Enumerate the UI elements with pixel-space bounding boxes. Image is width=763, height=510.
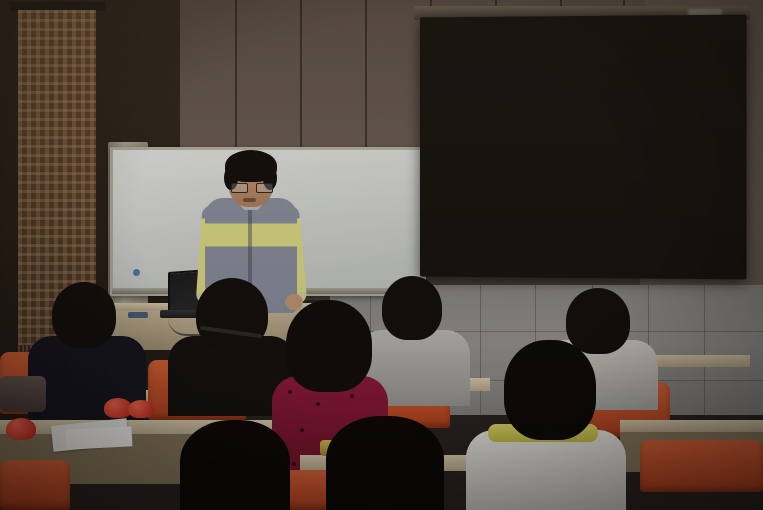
audience-member-body xyxy=(466,430,626,510)
desk-papers xyxy=(66,426,133,449)
audience-member-head xyxy=(382,276,442,340)
audience-member-head-foreground xyxy=(180,420,290,510)
audience-member-head xyxy=(286,300,372,392)
desk-red-object xyxy=(128,400,154,418)
whiteboard-magnet xyxy=(133,269,140,276)
classroom-photo: 探索式搜索 Exploratory Search Lookup Learn In… xyxy=(0,0,763,510)
presenter-hand xyxy=(285,294,303,310)
projection-screen: 探索式搜索 Exploratory Search Lookup Learn In… xyxy=(420,15,747,280)
presenter-mouth xyxy=(243,198,256,202)
audience-member-head-foreground xyxy=(326,416,444,510)
desk-bag xyxy=(0,376,46,412)
chair xyxy=(640,440,763,492)
desk-stapler xyxy=(128,312,148,318)
audience-member-head xyxy=(504,340,596,440)
audience-member-head xyxy=(196,278,268,350)
chair xyxy=(0,460,70,510)
audience-member-head xyxy=(566,288,630,354)
audience-member-head xyxy=(52,282,116,348)
presenter-glasses xyxy=(231,183,271,191)
desk-red-object xyxy=(6,418,36,440)
